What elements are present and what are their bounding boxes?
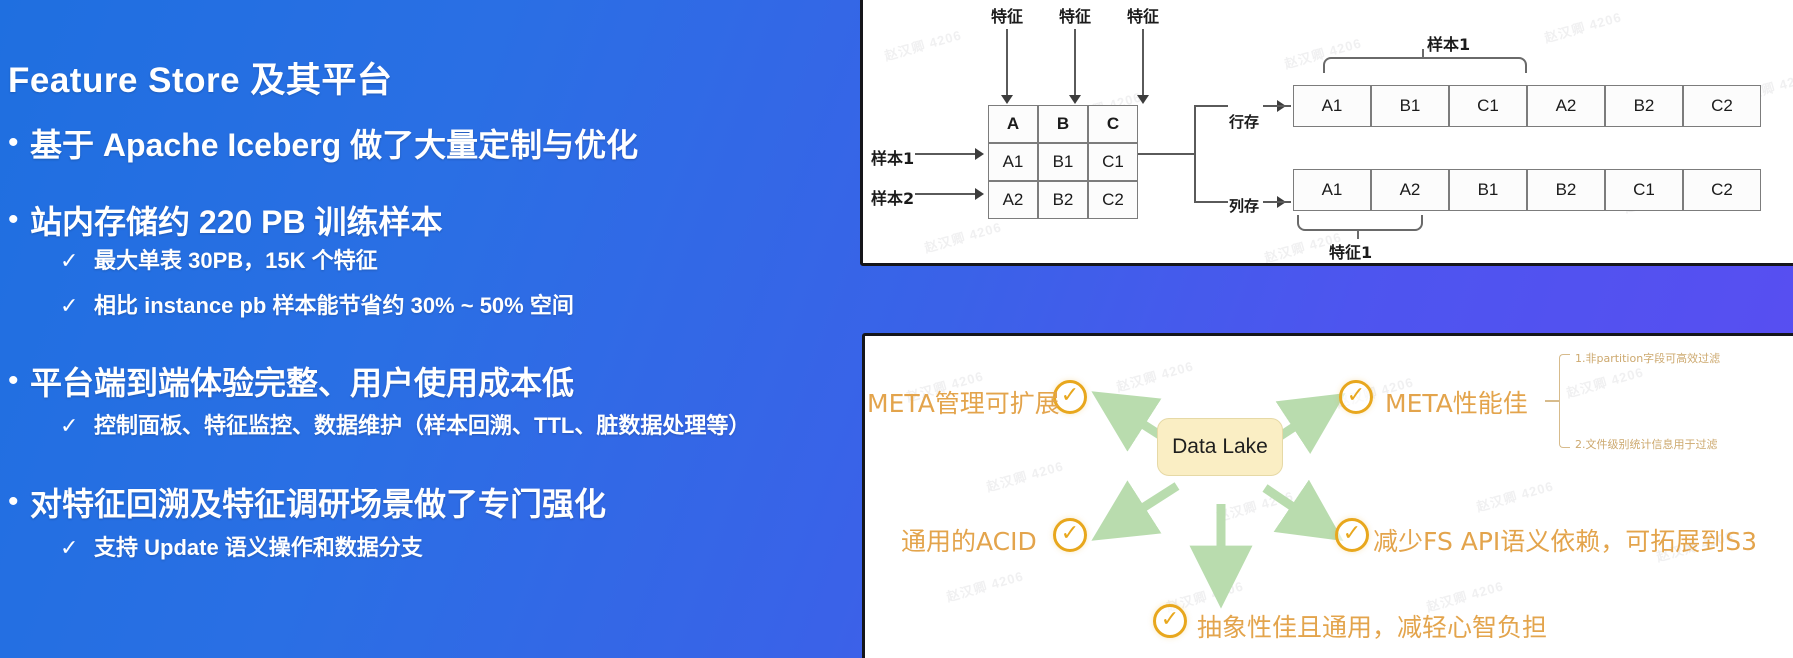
bullet-item-2: • 站内存储约 220 PB 训练样本 [8,205,443,240]
watermark: 赵汉卿 4206 [882,24,964,64]
node-label-good-abstraction: 抽象性佳且通用，减轻心智负担 [1197,608,1547,644]
check-marker-icon: ✓ [60,293,94,318]
matrix-cell: C2 [1088,181,1138,219]
annotation-1: 1.非partition字段可高效过滤 [1575,350,1720,366]
sub-bullet-text: 支持 Update 语义操作和数据分支 [94,535,423,560]
col-store-cell: C1 [1605,169,1683,211]
data-lake-benefits-diagram-panel: 赵汉卿 4206 赵汉卿 4206 赵汉卿 4206 赵汉卿 4206 赵汉卿 … [862,333,1793,658]
matrix-cell: A2 [988,181,1038,219]
row-store-brace [1323,57,1527,73]
row-store-cell: A2 [1527,85,1605,127]
col-store-brace-label: 特征1 [1329,239,1372,263]
row-store-brace-tick [1422,49,1424,59]
sub-bullet-text: 相比 instance pb 样本能节省约 30% ~ 50% 空间 [94,293,574,318]
node-label-less-fs-api: 减少FS API语义依赖，可拓展到S3 [1373,522,1757,558]
sub-bullet-2-2: ✓ 相比 instance pb 样本能节省约 30% ~ 50% 空间 [60,293,574,318]
bullet-marker-icon: • [8,128,30,158]
node-label-meta-scalable: META管理可扩展 [867,384,1060,420]
sub-bullet-4-1: ✓ 支持 Update 语义操作和数据分支 [60,535,423,560]
feature-arrow-line-2 [1074,29,1076,97]
sample-arrow-line-2 [915,193,977,195]
feature-label-2: 特征 [1059,3,1091,27]
matrix-cell: C1 [1088,143,1138,181]
col-store-cell: A2 [1371,169,1449,211]
check-circle-icon: ✓ [1053,518,1087,552]
feature-arrow-line-3 [1142,29,1144,97]
check-glyph: ✓ [1343,522,1361,544]
matrix-cell: A1 [988,143,1038,181]
slide-text-column: Feature Store 及其平台 • 基于 Apache Iceberg 做… [0,0,862,658]
page-title: Feature Store 及其平台 [8,52,392,103]
bullet-text-3: 平台端到端体验完整、用户使用成本低 [30,366,574,401]
col-store-cell: B2 [1527,169,1605,211]
feature-arrow-head-2 [1069,95,1081,104]
split-line-vertical [1194,105,1196,203]
split-line-main [1138,153,1196,155]
annotation-connector [1545,400,1559,402]
bullet-text-1: 基于 Apache Iceberg 做了大量定制与优化 [30,128,638,163]
sub-bullet-3-1: ✓ 控制面板、特征监控、数据维护（样本回溯、TTL、脏数据处理等） [60,413,750,438]
check-circle-icon: ✓ [1339,380,1373,414]
col-store-stub [1263,201,1291,203]
check-circle-icon: ✓ [1335,518,1369,552]
matrix-cell: B1 [1038,143,1088,181]
col-store-cell: B1 [1449,169,1527,211]
check-glyph: ✓ [1347,384,1365,406]
check-glyph: ✓ [1061,522,1079,544]
annotation-2: 2.文件级别统计信息用于过滤 [1575,436,1718,452]
matrix-header-cell: C [1088,105,1138,143]
row-store-cell: C1 [1449,85,1527,127]
col-store-brace [1297,215,1423,231]
bullet-marker-icon: • [8,205,30,235]
check-marker-icon: ✓ [60,413,94,438]
presentation-slide: Feature Store 及其平台 • 基于 Apache Iceberg 做… [0,0,1793,658]
col-store-label: 列存 [1229,195,1259,216]
matrix-header-cell: B [1038,105,1088,143]
sample-arrow-line-1 [915,153,977,155]
sample-arrow-head-1 [975,148,984,160]
bullet-marker-icon: • [8,487,30,517]
check-glyph: ✓ [1061,384,1079,406]
check-marker-icon: ✓ [60,535,94,560]
row-store-cell: A1 [1293,85,1371,127]
data-lake-node: Data Lake [1157,418,1283,476]
row-store-cell: C2 [1683,85,1761,127]
feature-arrow-line-1 [1006,29,1008,97]
sample-label-2: 样本2 [871,185,914,209]
bullet-marker-icon: • [8,366,30,396]
sample-label-1: 样本1 [871,145,914,169]
bullet-item-1: • 基于 Apache Iceberg 做了大量定制与优化 [8,128,638,163]
sub-bullet-text: 控制面板、特征监控、数据维护（样本回溯、TTL、脏数据处理等） [94,413,750,438]
row-column-storage-diagram-panel: 赵汉卿 4206 赵汉卿 4206 赵汉卿 4206 赵汉卿 4206 赵汉卿 … [860,0,1793,266]
feature-arrow-head-3 [1137,95,1149,104]
row-store-label: 行存 [1229,111,1259,132]
bullet-text-2: 站内存储约 220 PB 训练样本 [30,205,443,240]
feature-arrow-head-1 [1001,95,1013,104]
bullet-item-4: • 对特征回溯及特征调研场景做了专门强化 [8,487,606,522]
sample-arrow-head-2 [975,188,984,200]
col-store-brace-tick [1357,229,1359,239]
watermark: 赵汉卿 4206 [922,216,1004,256]
node-label-meta-performance: META性能佳 [1385,384,1528,420]
feature-label-1: 特征 [991,3,1023,27]
matrix-cell: B2 [1038,181,1088,219]
matrix-header-cell: A [988,105,1038,143]
watermark: 赵汉卿 4206 [1542,6,1624,46]
bullet-item-3: • 平台端到端体验完整、用户使用成本低 [8,366,574,401]
sub-bullet-text: 最大单表 30PB，15K 个特征 [94,248,378,273]
check-glyph: ✓ [1161,608,1179,630]
feature-label-3: 特征 [1127,3,1159,27]
node-label-generic-acid: 通用的ACID [901,522,1037,558]
split-line-row [1194,105,1228,107]
split-line-col [1194,201,1228,203]
row-store-brace-label: 样本1 [1427,31,1470,55]
col-store-cell: A1 [1293,169,1371,211]
row-store-cell: B1 [1371,85,1449,127]
sub-bullet-2-1: ✓ 最大单表 30PB，15K 个特征 [60,248,378,273]
check-circle-icon: ✓ [1153,604,1187,638]
check-marker-icon: ✓ [60,248,94,273]
col-store-cell: C2 [1683,169,1761,211]
annotation-brace [1559,354,1570,448]
row-store-cell: B2 [1605,85,1683,127]
row-store-stub [1263,105,1291,107]
bullet-text-4: 对特征回溯及特征调研场景做了专门强化 [30,487,606,522]
